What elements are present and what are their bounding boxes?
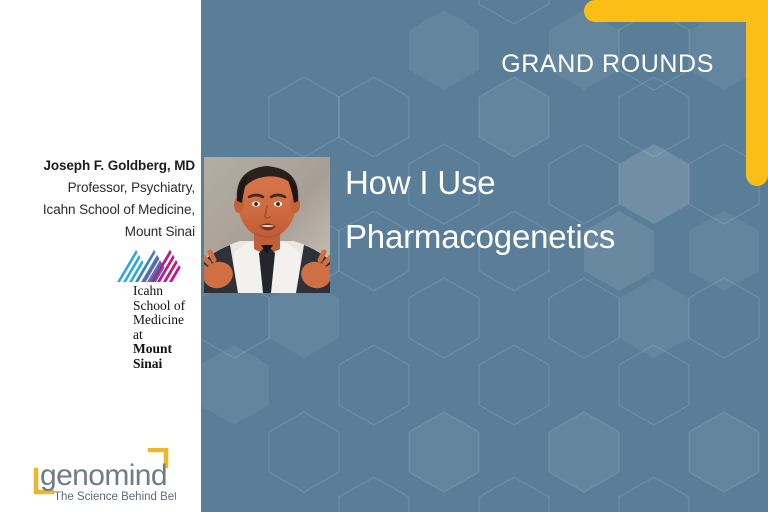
corner-accent-horizontal-bar [584,0,768,22]
wordmark-line-4: Mount [133,342,195,357]
wordmark-line-1: Icahn [133,284,195,299]
speaker-title-line-1: Professor, Psychiatry, [5,177,195,199]
speaker-title-line-3: Mount Sinai [5,221,195,243]
genomind-logo-icon: genomind The Science Behind Better [26,448,176,506]
slide-title: How I Use Pharmacogenetics [345,156,755,264]
speaker-portrait-photo [204,157,330,293]
slide-canvas: Joseph F. Goldberg, MD Professor, Psychi… [0,0,768,512]
slide-title-line-2: Pharmacogenetics [345,210,755,264]
icahn-mount-sinai-logo: Icahn School of Medicine at Mount Sinai [103,246,195,371]
mount-sinai-peaks-icon [111,246,203,282]
speaker-name: Joseph F. Goldberg, MD [5,155,195,177]
portrait-image [204,157,330,293]
corner-accent-vertical-bar [746,0,768,186]
genomind-wordmark-text: genomind [40,459,167,492]
genomind-tagline-text: The Science Behind Better [54,491,176,503]
grand-rounds-eyebrow: GRAND ROUNDS [501,50,714,79]
genomind-logo: genomind The Science Behind Better [26,448,176,506]
speaker-title-line-2: Icahn School of Medicine, [5,199,195,221]
icahn-mount-sinai-wordmark: Icahn School of Medicine at Mount Sinai [133,284,195,371]
left-info-panel: Joseph F. Goldberg, MD Professor, Psychi… [0,0,201,512]
speaker-credit-block: Joseph F. Goldberg, MD Professor, Psychi… [5,155,195,243]
wordmark-line-5: Sinai [133,357,195,372]
slide-title-line-1: How I Use [345,156,755,210]
wordmark-line-2: School of [133,299,195,314]
wordmark-line-3: Medicine at [133,313,195,342]
